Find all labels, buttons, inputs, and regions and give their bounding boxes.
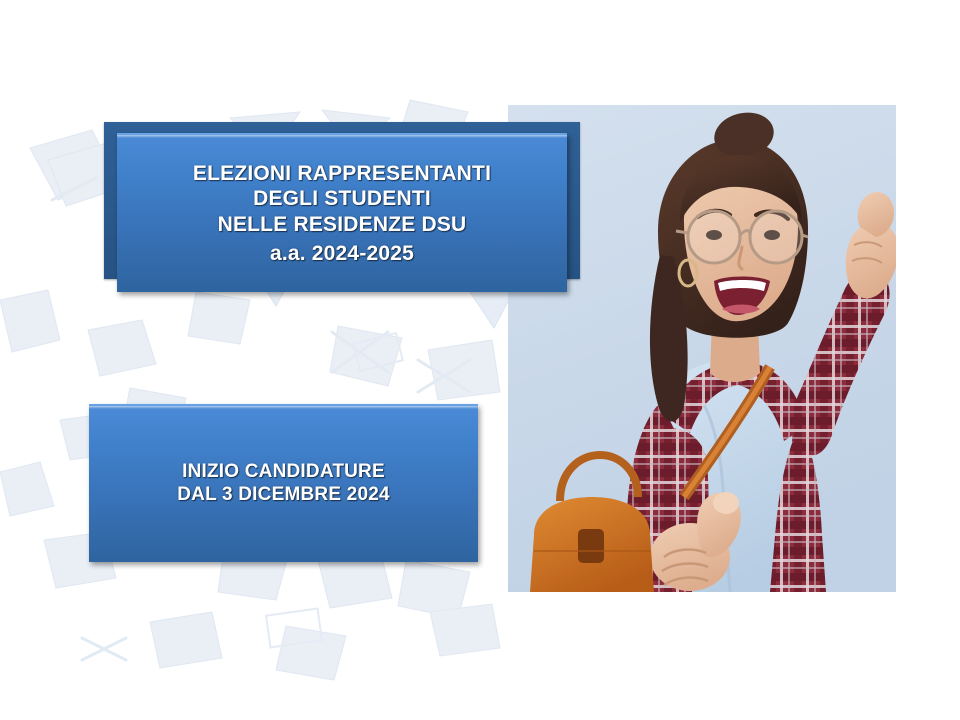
callout-applications-text: INIZIO CANDIDATURE DAL 3 DICEMBRE 2024 xyxy=(167,461,400,507)
callout-elections-plate: ELEZIONI RAPPRESENTANTI DEGLI STUDENTI N… xyxy=(117,133,567,292)
callout-elections: ELEZIONI RAPPRESENTANTI DEGLI STUDENTI N… xyxy=(104,122,580,292)
applications-line-1: INIZIO CANDIDATURE xyxy=(182,461,385,482)
elections-academic-year: a.a. 2024-2025 xyxy=(193,241,491,266)
slide: ELEZIONI RAPPRESENTANTI DEGLI STUDENTI N… xyxy=(0,0,960,720)
callout-applications-plate: INIZIO CANDIDATURE DAL 3 DICEMBRE 2024 xyxy=(89,404,478,562)
elections-line-1: ELEZIONI RAPPRESENTANTI xyxy=(193,162,491,185)
elections-line-2: DEGLI STUDENTI xyxy=(253,187,431,210)
callout-elections-text: ELEZIONI RAPPRESENTANTI DEGLI STUDENTI N… xyxy=(183,161,501,266)
callout-applications: INIZIO CANDIDATURE DAL 3 DICEMBRE 2024 xyxy=(89,404,478,564)
applications-line-2: DAL 3 DICEMBRE 2024 xyxy=(177,484,390,505)
elections-line-3: NELLE RESIDENZE DSU xyxy=(218,213,467,236)
